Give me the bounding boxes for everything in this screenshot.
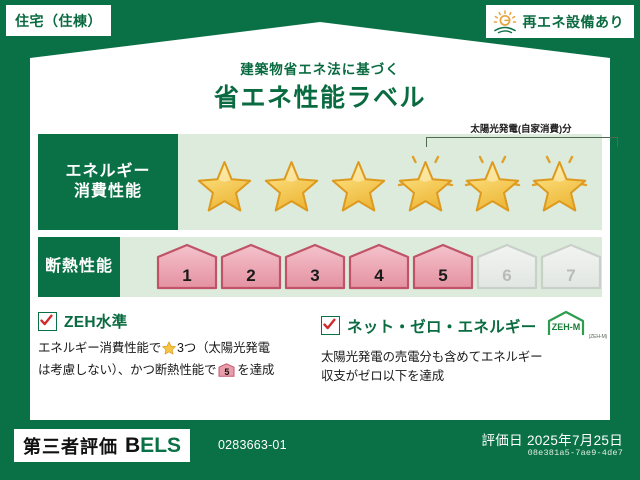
- bels-evaluation-box: 第三者評価 BELS: [14, 429, 190, 462]
- star-solar: [460, 151, 525, 213]
- insulation-level-number: 2: [220, 267, 282, 284]
- bels-letter-b: B: [125, 434, 140, 457]
- label-card: 建築物省エネ法に基づく 省エネ性能ラベル エネルギー 消費性能 太陽光発電(自家…: [30, 22, 610, 420]
- energy-caption-line1: エネルギー: [65, 162, 150, 182]
- insulation-level-badge: 1: [156, 243, 218, 291]
- solar-annotation-text: 太陽光発電(自家消費)分: [424, 121, 618, 135]
- renewable-tag-text: 再エネ設備あり: [523, 12, 625, 32]
- star-base: [326, 151, 391, 213]
- criteria-nze-title: ネット・ゼロ・エネルギー: [347, 315, 537, 337]
- insulation-performance-row: 断熱性能 1234567: [38, 237, 602, 297]
- criteria-zeh-text4: を達成: [237, 363, 274, 377]
- bels-logo: BELS: [125, 434, 181, 458]
- insulation-level-badge: 2: [220, 243, 282, 291]
- checkbox-checked-icon: [321, 316, 340, 335]
- insulation-level-badge: 3: [284, 243, 346, 291]
- inline-insulation-badge: 5: [218, 363, 235, 377]
- renewable-equipment-tag: 再エネ設備あり: [486, 5, 635, 38]
- insulation-level-number: 5: [412, 267, 474, 284]
- evaluation-hash: 08e381a5-7ae9-4de7: [528, 448, 623, 458]
- star-base: [259, 151, 324, 213]
- star-base: [192, 151, 257, 213]
- sun-solar-icon: [492, 10, 518, 34]
- insulation-level-number: 4: [348, 267, 410, 284]
- criteria-zeh-text1: エネルギー消費性能で: [38, 341, 161, 355]
- criteria-zeh-title: ZEH水準: [64, 310, 128, 332]
- page-title: 省エネ性能ラベル: [30, 78, 610, 114]
- bels-letter-e: E: [140, 434, 154, 457]
- insulation-level-number: 3: [284, 267, 346, 284]
- title-subtitle: 建築物省エネ法に基づく: [30, 58, 610, 78]
- footer-bar: 第三者評価 BELS 0283663-01 評価日 2025年7月25日 08e…: [0, 420, 640, 480]
- svg-text:ZEH-M: ZEH-M: [551, 322, 580, 332]
- performance-rows: エネルギー 消費性能 太陽光発電(自家消費)分 断熱性能: [38, 134, 602, 304]
- zeh-m-logo: ZEH-M (ZEH-M): [545, 310, 587, 341]
- inline-badge-number: 5: [218, 368, 235, 377]
- criteria-section: ZEH水準 エネルギー消費性能で3つ（太陽光発電は考慮しない）、かつ断熱性能で5…: [38, 310, 604, 387]
- star-solar: [527, 151, 592, 213]
- energy-row-value: 太陽光発電(自家消費)分: [178, 134, 602, 230]
- criteria-zeh-text2: 3つ（太陽光発電: [177, 341, 270, 355]
- bels-letter-s: S: [167, 434, 181, 457]
- energy-performance-label: 住宅（住棟） 再エネ設備あり: [0, 0, 640, 480]
- bels-certificate-number: 0283663-01: [218, 438, 287, 452]
- third-party-label: 第三者評価: [23, 433, 118, 459]
- insulation-level-number: 6: [476, 267, 538, 284]
- insulation-level-number: 7: [540, 267, 602, 284]
- energy-row-caption: エネルギー 消費性能: [38, 134, 178, 230]
- insulation-level-badge: 4: [348, 243, 410, 291]
- criteria-nze-header: ネット・ゼロ・エネルギー ZEH-M (ZEH-M): [321, 310, 594, 341]
- evaluation-date-value: 2025年7月25日: [527, 433, 623, 448]
- insulation-level-scale: 1234567: [120, 243, 602, 291]
- solar-annotation-bracket: [426, 137, 618, 147]
- energy-performance-row: エネルギー 消費性能 太陽光発電(自家消費)分: [38, 134, 602, 230]
- star-solar: [393, 151, 458, 213]
- insulation-level-number: 1: [156, 267, 218, 284]
- insulation-row-value: 1234567: [120, 237, 602, 297]
- criteria-zeh-text3: は考慮しない）、かつ断熱性能で: [38, 363, 216, 377]
- star-rating: 太陽光発電(自家消費)分: [178, 151, 602, 213]
- bels-letter-l: L: [154, 434, 167, 457]
- zeh-m-logo-caption: (ZEH-M): [589, 334, 607, 340]
- checkbox-checked-icon: [38, 312, 57, 331]
- criteria-net-zero-energy: ネット・ゼロ・エネルギー ZEH-M (ZEH-M) 太陽光発電の売電分も含めて…: [321, 310, 604, 387]
- criteria-nze-line1: 太陽光発電の売電分も含めてエネルギー: [321, 350, 542, 364]
- building-type-text: 住宅（住棟）: [15, 11, 102, 31]
- criteria-zeh-body: エネルギー消費性能で3つ（太陽光発電は考慮しない）、かつ断熱性能で5を達成: [38, 339, 311, 381]
- insulation-caption-text: 断熱性能: [45, 257, 113, 277]
- insulation-level-badge: 6: [476, 243, 538, 291]
- energy-caption-line2: 消費性能: [74, 182, 142, 202]
- insulation-level-badge: 5: [412, 243, 474, 291]
- insulation-row-caption: 断熱性能: [38, 237, 120, 297]
- criteria-nze-body: 太陽光発電の売電分も含めてエネルギー収支がゼロ以下を達成: [321, 348, 594, 387]
- criteria-nze-line2: 収支がゼロ以下を達成: [321, 369, 444, 383]
- building-type-tag: 住宅（住棟）: [6, 5, 111, 36]
- criteria-zeh-header: ZEH水準: [38, 310, 311, 332]
- inline-star-icon: [162, 341, 176, 361]
- criteria-zeh-standard: ZEH水準 エネルギー消費性能で3つ（太陽光発電は考慮しない）、かつ断熱性能で5…: [38, 310, 321, 387]
- evaluation-date-label: 評価日: [481, 433, 522, 448]
- insulation-level-badge: 7: [540, 243, 602, 291]
- evaluation-date: 評価日 2025年7月25日: [481, 429, 623, 449]
